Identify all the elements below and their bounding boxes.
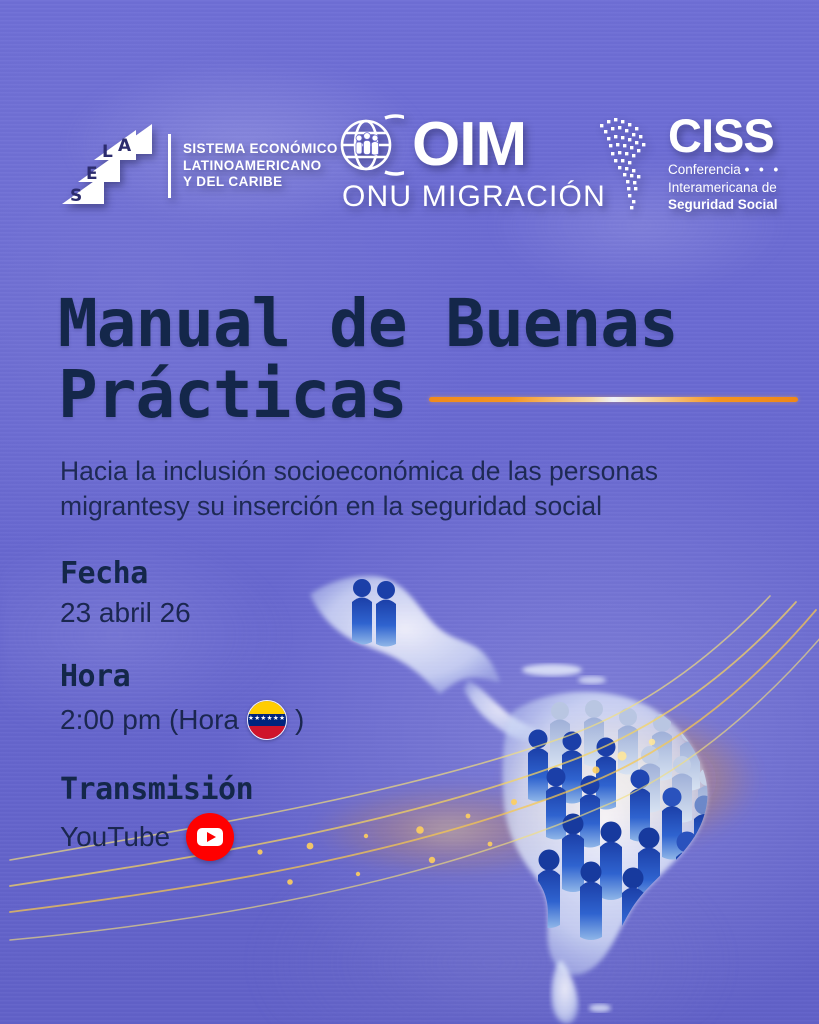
subtitle: Hacia la inclusión socioeconómica de las… xyxy=(60,454,760,524)
title-line-2: Prácticas xyxy=(58,359,407,430)
poster: S E L A SISTEMA ECONÓMICO LATINOAMERICAN… xyxy=(0,0,819,1024)
hora-text-before: 2:00 pm (Hora xyxy=(60,704,239,736)
venezuela-flag-icon: ★★★★★★★★ xyxy=(247,700,287,740)
flag-stars: ★★★★★★★★ xyxy=(248,716,286,723)
oim-subtitle: ONU MIGRACIÓN xyxy=(342,180,606,214)
detail-value-fecha: 23 abril 26 xyxy=(60,597,304,629)
ciss-wordmark: CISS xyxy=(668,114,781,159)
ciss-line-1-text: Conferencia xyxy=(668,162,741,177)
logo-ciss: CISS Conferencia • • • Interamericana de… xyxy=(596,114,781,214)
svg-text:A: A xyxy=(118,136,132,156)
logo-oim: OIM ONU MIGRACIÓN xyxy=(338,112,606,214)
event-details: Fecha 23 abril 26 Hora 2:00 pm (Hora ★★★… xyxy=(60,556,304,861)
ciss-line-2: Interamericana de xyxy=(668,179,781,197)
detail-label-transmision: Transmisión xyxy=(60,772,304,807)
youtube-play-triangle xyxy=(207,832,216,842)
ciss-line-1: Conferencia • • • xyxy=(668,161,781,179)
flag-band-yellow xyxy=(248,701,286,714)
sela-label: SISTEMA ECONÓMICO LATINOAMERICANO Y DEL … xyxy=(183,141,338,190)
svg-text:S: S xyxy=(70,186,82,206)
transmision-platform-name: YouTube xyxy=(60,821,170,853)
hora-text-after: ) xyxy=(295,704,304,736)
detail-transmision: Transmisión YouTube xyxy=(60,772,304,861)
detail-value-transmision: YouTube xyxy=(60,813,304,861)
title-line-1: Manual de Buenas xyxy=(58,288,798,359)
ciss-line-3: Seguridad Social xyxy=(668,196,781,214)
flag-band-red xyxy=(248,726,286,739)
ciss-dots: • • • xyxy=(745,162,782,177)
logo-row: S E L A SISTEMA ECONÓMICO LATINOAMERICAN… xyxy=(0,108,819,234)
youtube-icon[interactable] xyxy=(186,813,234,861)
svg-text:L: L xyxy=(102,142,113,162)
oim-wordmark: OIM xyxy=(412,116,526,173)
detail-value-hora: 2:00 pm (Hora ★★★★★★★★ ) xyxy=(60,700,304,740)
title-accent-rule xyxy=(429,397,798,402)
detail-hora: Hora 2:00 pm (Hora ★★★★★★★★ ) xyxy=(60,659,304,740)
title-line-2-row: Prácticas xyxy=(58,359,798,430)
sela-divider xyxy=(168,134,171,198)
ciss-dotted-americas-map xyxy=(596,114,658,214)
svg-text:E: E xyxy=(86,164,98,184)
detail-label-fecha: Fecha xyxy=(60,556,304,591)
logo-sela: S E L A SISTEMA ECONÓMICO LATINOAMERICAN… xyxy=(62,124,338,208)
detail-label-hora: Hora xyxy=(60,659,304,694)
sela-triangles-mark: S E L A xyxy=(62,124,158,208)
title-block: Manual de Buenas Prácticas xyxy=(58,288,798,431)
detail-fecha: Fecha 23 abril 26 xyxy=(60,556,304,629)
oim-globe-family-icon xyxy=(338,112,404,178)
youtube-icon-body xyxy=(197,828,223,846)
